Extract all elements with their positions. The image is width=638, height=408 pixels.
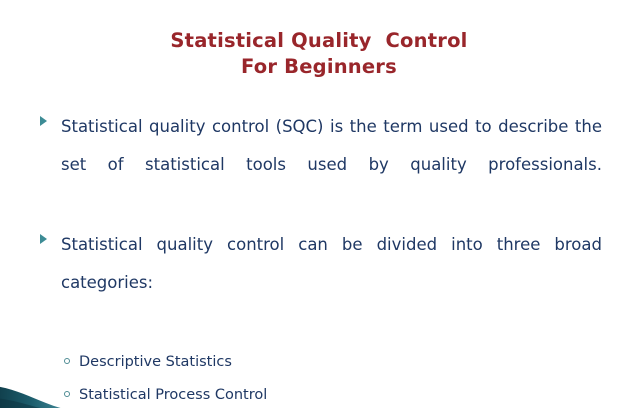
slide-body: Statistical quality control (SQC) is the… [38, 108, 602, 408]
bullet-item-2: Statistical quality control can be divid… [38, 226, 602, 340]
sub-bullet-list: Descriptive Statistics Statistical Proce… [38, 344, 602, 408]
sub-bullet-item-1-text: Descriptive Statistics [79, 354, 232, 370]
triangle-right-icon [40, 234, 47, 244]
title-line-1: Statistical Quality Control [0, 28, 638, 54]
bullet-item-1-text: Statistical quality control (SQC) is the… [61, 108, 602, 222]
slide-title: Statistical Quality Control For Beginner… [0, 28, 638, 80]
circle-outline-icon [64, 358, 70, 364]
sub-bullet-item-2-text: Statistical Process Control [79, 387, 267, 403]
sub-bullet-item-1: Descriptive Statistics [64, 344, 602, 377]
bullet-item-2-text: Statistical quality control can be divid… [61, 226, 602, 340]
sub-bullet-item-2: Statistical Process Control [64, 377, 602, 408]
bullet-item-1: Statistical quality control (SQC) is the… [38, 108, 602, 222]
slide-canvas: Statistical Quality Control For Beginner… [0, 0, 638, 408]
triangle-right-icon [40, 116, 47, 126]
title-line-2: For Beginners [0, 54, 638, 80]
circle-outline-icon [64, 391, 70, 397]
